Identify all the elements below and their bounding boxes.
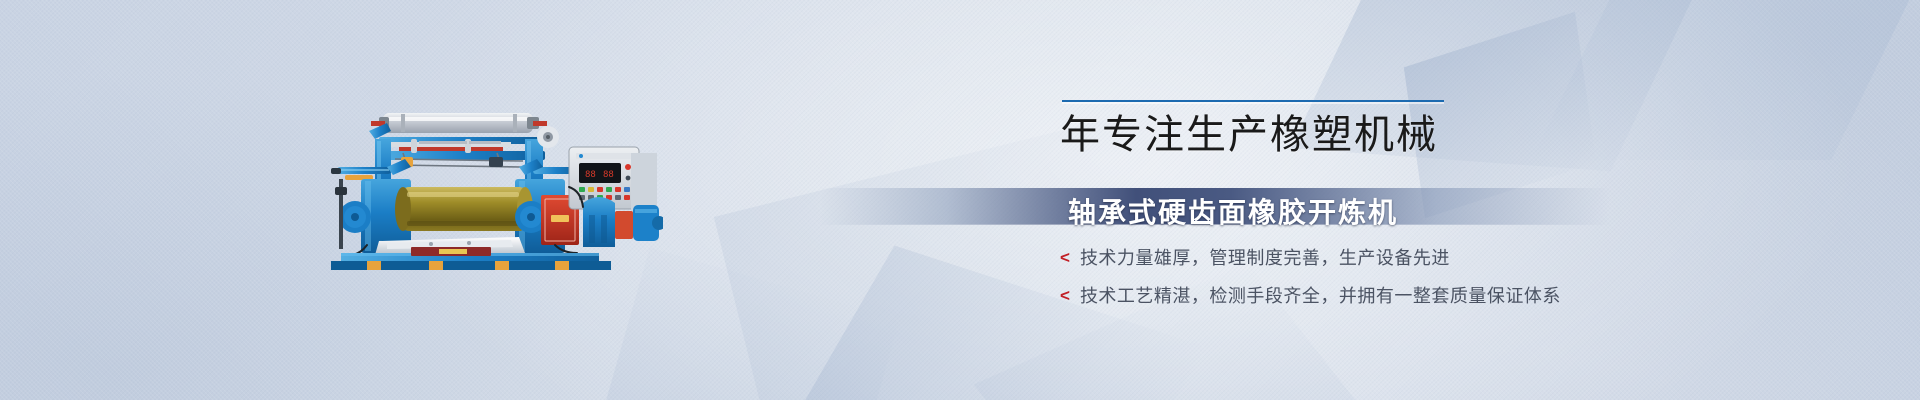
chevron-left-icon: < xyxy=(1060,249,1070,266)
machine-mixing-roll xyxy=(395,187,533,231)
machine-nameplate xyxy=(411,247,491,256)
promo-banner: 88 88 xyxy=(0,0,1920,400)
machine-gearbox xyxy=(583,197,615,247)
background-facet-shape xyxy=(1531,0,1920,160)
feature-text: 技术工艺精湛，检测手段齐全，并拥有一整套质量保证体系 xyxy=(1080,282,1561,308)
banner-text-block: 年专注生产橡塑机械 轴承式硬齿面橡胶开炼机 < 技术力量雄厚，管理制度完善，生产… xyxy=(1060,100,1580,320)
list-item: < 技术力量雄厚，管理制度完善，生产设备先进 xyxy=(1060,244,1580,270)
svg-text:88: 88 xyxy=(585,170,596,180)
svg-text:88: 88 xyxy=(603,170,614,180)
page-title: 年专注生产橡塑机械 xyxy=(1060,114,1580,156)
headline-rule xyxy=(1062,100,1444,102)
chevron-left-icon: < xyxy=(1060,287,1070,304)
machine-blower xyxy=(537,126,559,148)
product-subtitle: 轴承式硬齿面橡胶开炼机 xyxy=(1068,191,1398,231)
feature-text: 技术力量雄厚，管理制度完善，生产设备先进 xyxy=(1080,244,1450,270)
product-image-rubber-mixing-mill: 88 88 xyxy=(283,95,663,275)
machine-top-roll xyxy=(371,113,547,133)
machine-motor xyxy=(615,205,663,241)
list-item: < 技术工艺精湛，检测手段齐全，并拥有一整套质量保证体系 xyxy=(1060,282,1580,308)
feature-list: < 技术力量雄厚，管理制度完善，生产设备先进 < 技术工艺精湛，检测手段齐全，并… xyxy=(1060,244,1580,308)
